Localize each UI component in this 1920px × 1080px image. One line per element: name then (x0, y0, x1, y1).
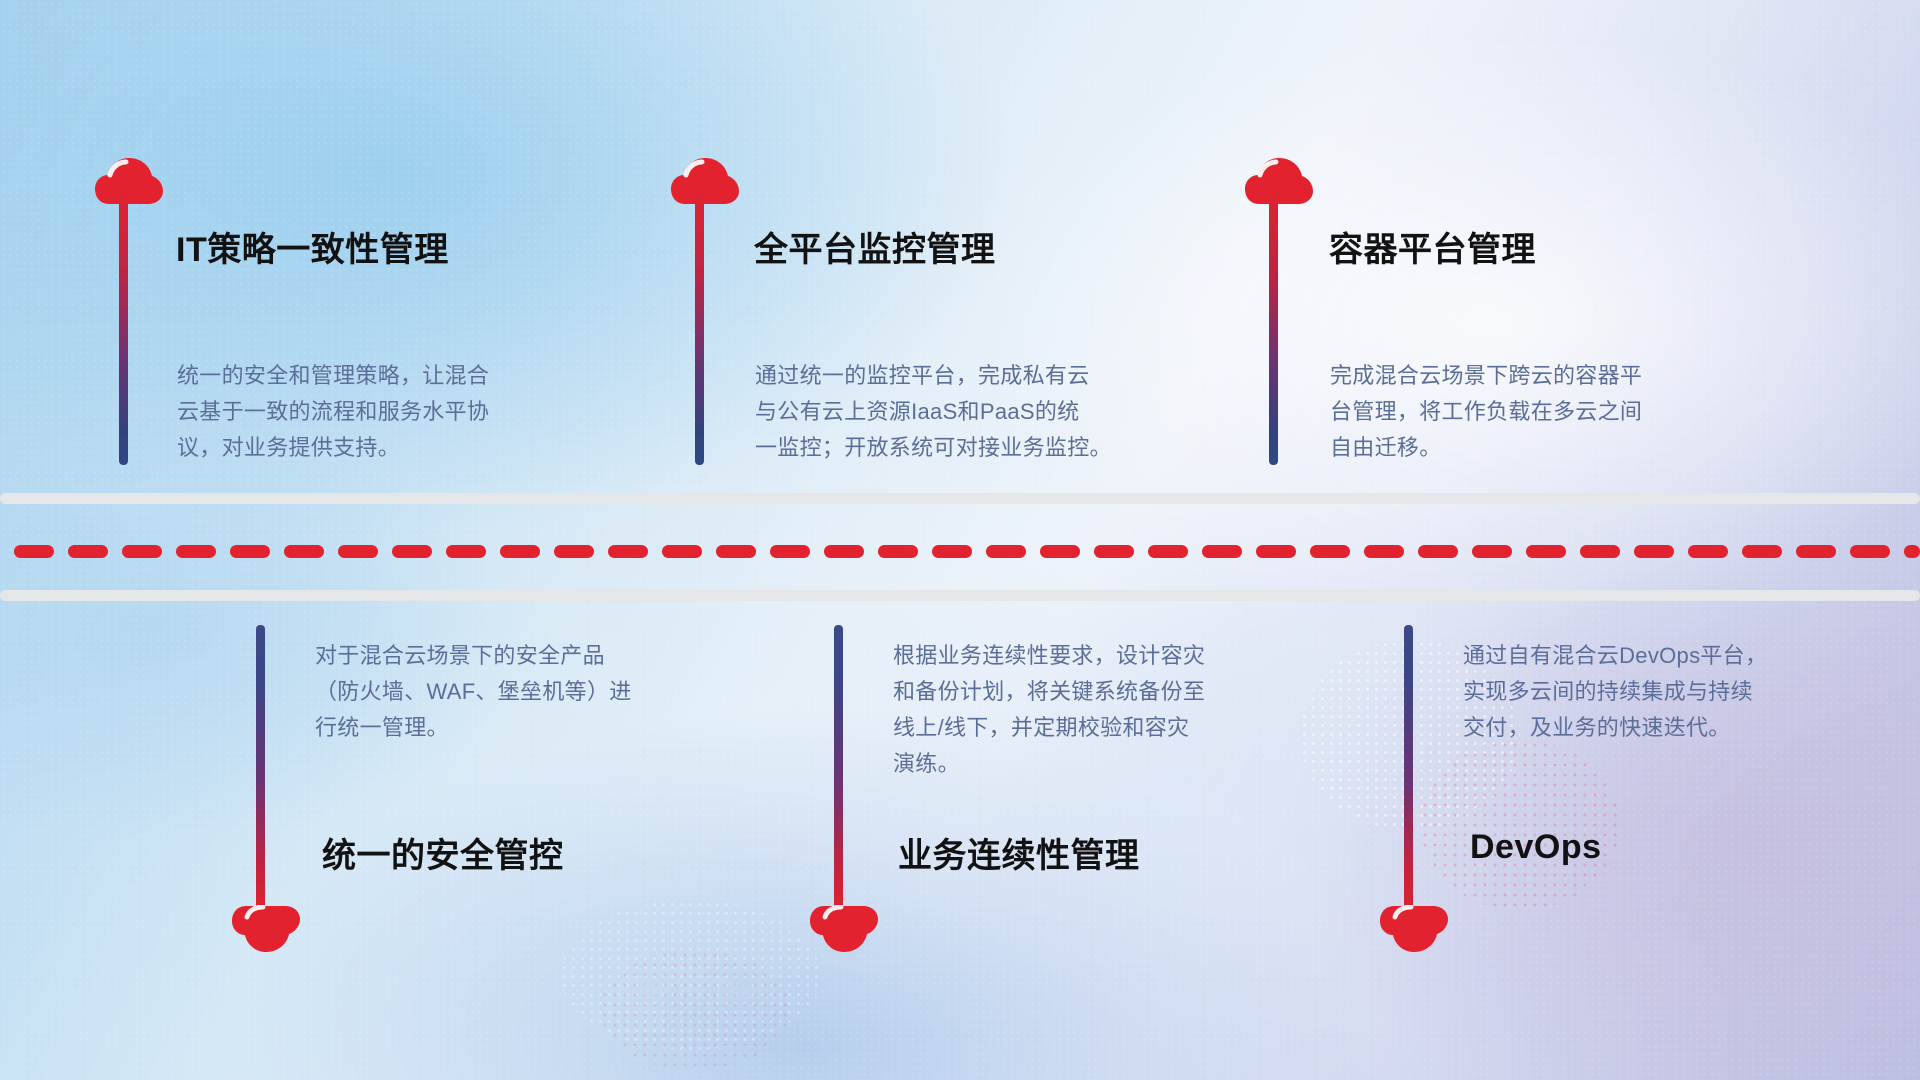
divider-dash (824, 545, 864, 558)
divider-dash (608, 545, 648, 558)
divider-dash (662, 545, 702, 558)
divider-dash (1688, 545, 1728, 558)
decorative-dot-patch-4 (600, 950, 790, 1070)
connector-stem (1269, 190, 1278, 465)
divider-dash (932, 545, 972, 558)
divider-dash (770, 545, 810, 558)
divider-dash (1256, 545, 1296, 558)
divider-dash (1364, 545, 1404, 558)
divider-dash (1634, 545, 1674, 558)
divider-dash (284, 545, 324, 558)
connector-stem (834, 625, 843, 915)
divider-dash (68, 545, 108, 558)
feature-description: 根据业务连续性要求，设计容灾 和备份计划，将关键系统备份至 线上/线下，并定期校… (893, 638, 1333, 782)
divider-dash (1202, 545, 1242, 558)
cloud-icon (1380, 905, 1448, 952)
divider-rail-bottom (0, 590, 1920, 601)
feature-heading: 业务连续性管理 (898, 828, 1140, 877)
divider-dash (986, 545, 1026, 558)
divider-dash (554, 545, 594, 558)
feature-heading: 全平台监控管理 (754, 222, 996, 271)
divider-dash (1148, 545, 1188, 558)
divider-dash (1094, 545, 1134, 558)
divider-dash (500, 545, 540, 558)
decorative-dot-patch-2 (1420, 740, 1620, 910)
divider-dashed-line (0, 545, 1920, 558)
divider-dash (446, 545, 486, 558)
divider-dash (230, 545, 270, 558)
connector-stem (1404, 625, 1413, 915)
divider-dash (1418, 545, 1458, 558)
divider-dash (1526, 545, 1566, 558)
feature-heading: DevOps (1470, 828, 1602, 867)
feature-description: 完成混合云场景下跨云的容器平 台管理，将工作负载在多云之间 自由迁移。 (1330, 358, 1770, 466)
cloud-icon (1245, 158, 1313, 205)
connector-stem (695, 190, 704, 465)
connector-stem (256, 625, 265, 915)
feature-column-bottom-3: 通过自有混合云DevOps平台， 实现多云间的持续集成与持续 交付，及业务的快速… (0, 0, 620, 400)
divider-rail-top (0, 493, 1920, 504)
feature-heading: 统一的安全管控 (322, 828, 564, 877)
divider-dash (1040, 545, 1080, 558)
feature-heading: 容器平台管理 (1329, 222, 1536, 271)
divider-dash (1904, 545, 1920, 558)
cloud-icon (671, 158, 739, 205)
divider-dash (1580, 545, 1620, 558)
divider-dash (14, 545, 54, 558)
feature-description: 对于混合云场景下的安全产品 （防火墙、WAF、堡垒机等）进 行统一管理。 (315, 638, 745, 746)
divider-dash (878, 545, 918, 558)
feature-description: 通过统一的监控平台，完成私有云 与公有云上资源IaaS和PaaS的统 一监控；开… (755, 358, 1205, 466)
divider-dash (1742, 545, 1782, 558)
divider-dash (1310, 545, 1350, 558)
divider-dash (176, 545, 216, 558)
cloud-icon (810, 905, 878, 952)
divider-dash (1472, 545, 1512, 558)
divider-dash (1850, 545, 1890, 558)
cloud-icon (232, 905, 300, 952)
divider-dash (716, 545, 756, 558)
feature-description: 通过自有混合云DevOps平台， 实现多云间的持续集成与持续 交付，及业务的快速… (1463, 638, 1903, 746)
divider-dash (338, 545, 378, 558)
divider-dash (392, 545, 432, 558)
divider-dash (1796, 545, 1836, 558)
divider-dash (122, 545, 162, 558)
